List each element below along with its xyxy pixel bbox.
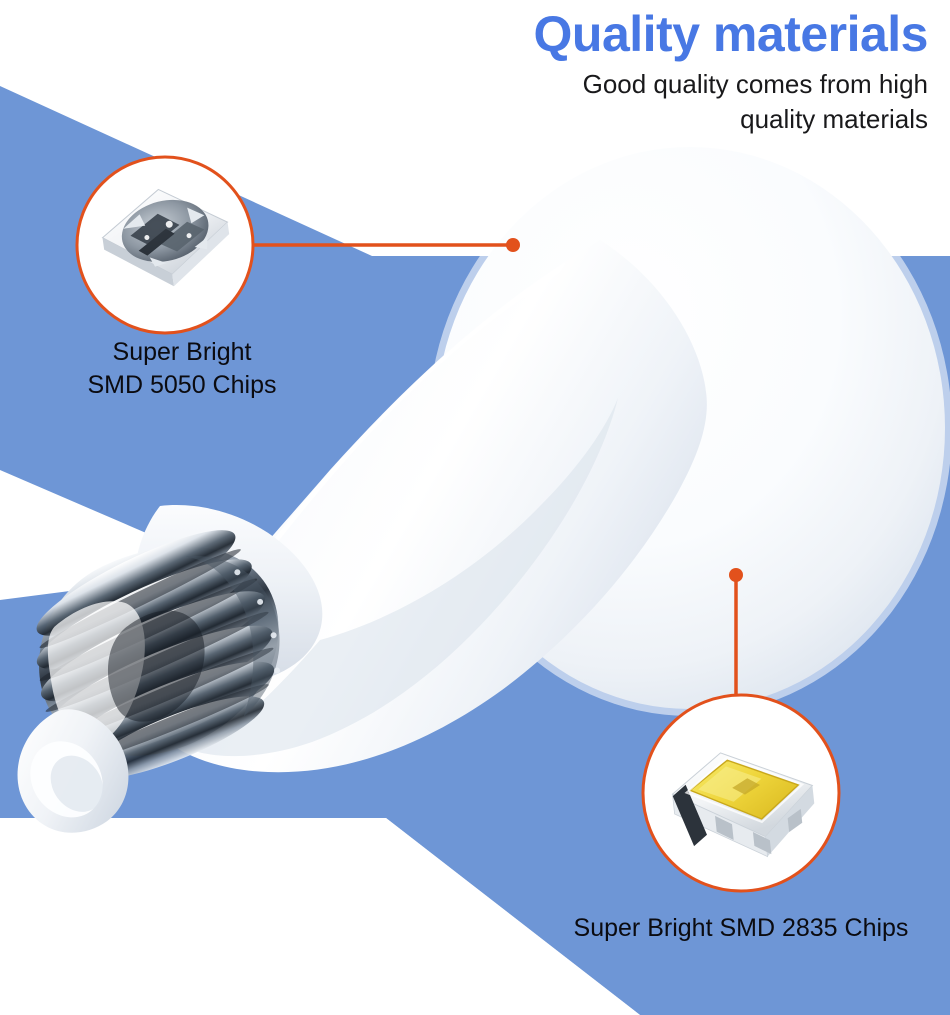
callout-circle-smd-2835[interactable] [643,695,839,891]
callout-circle-smd-5050[interactable] [77,157,253,333]
callout-caption-smd-5050: Super Bright SMD 5050 Chips [42,336,322,402]
caption-2835-line-1: Super Bright SMD 2835 Chips [533,912,949,945]
connector-smd-2835 [729,568,743,695]
caption-5050-line-2: SMD 5050 Chips [42,369,322,402]
connector-dot-2835 [729,568,743,582]
page-title: Quality materials [408,8,928,60]
callout-caption-smd-2835: Super Bright SMD 2835 Chips [533,912,949,945]
header-block: Quality materials Good quality comes fro… [408,8,928,136]
subtitle-line-2: quality materials [740,104,928,134]
callout-layer [0,0,950,1015]
page-subtitle: Good quality comes from high quality mat… [408,67,928,136]
connector-dot-5050 [506,238,520,252]
connector-smd-5050 [253,238,520,252]
product-infographic: Quality materials Good quality comes fro… [0,0,950,1015]
subtitle-line-1: Good quality comes from high [583,69,928,99]
caption-5050-line-1: Super Bright [42,336,322,369]
